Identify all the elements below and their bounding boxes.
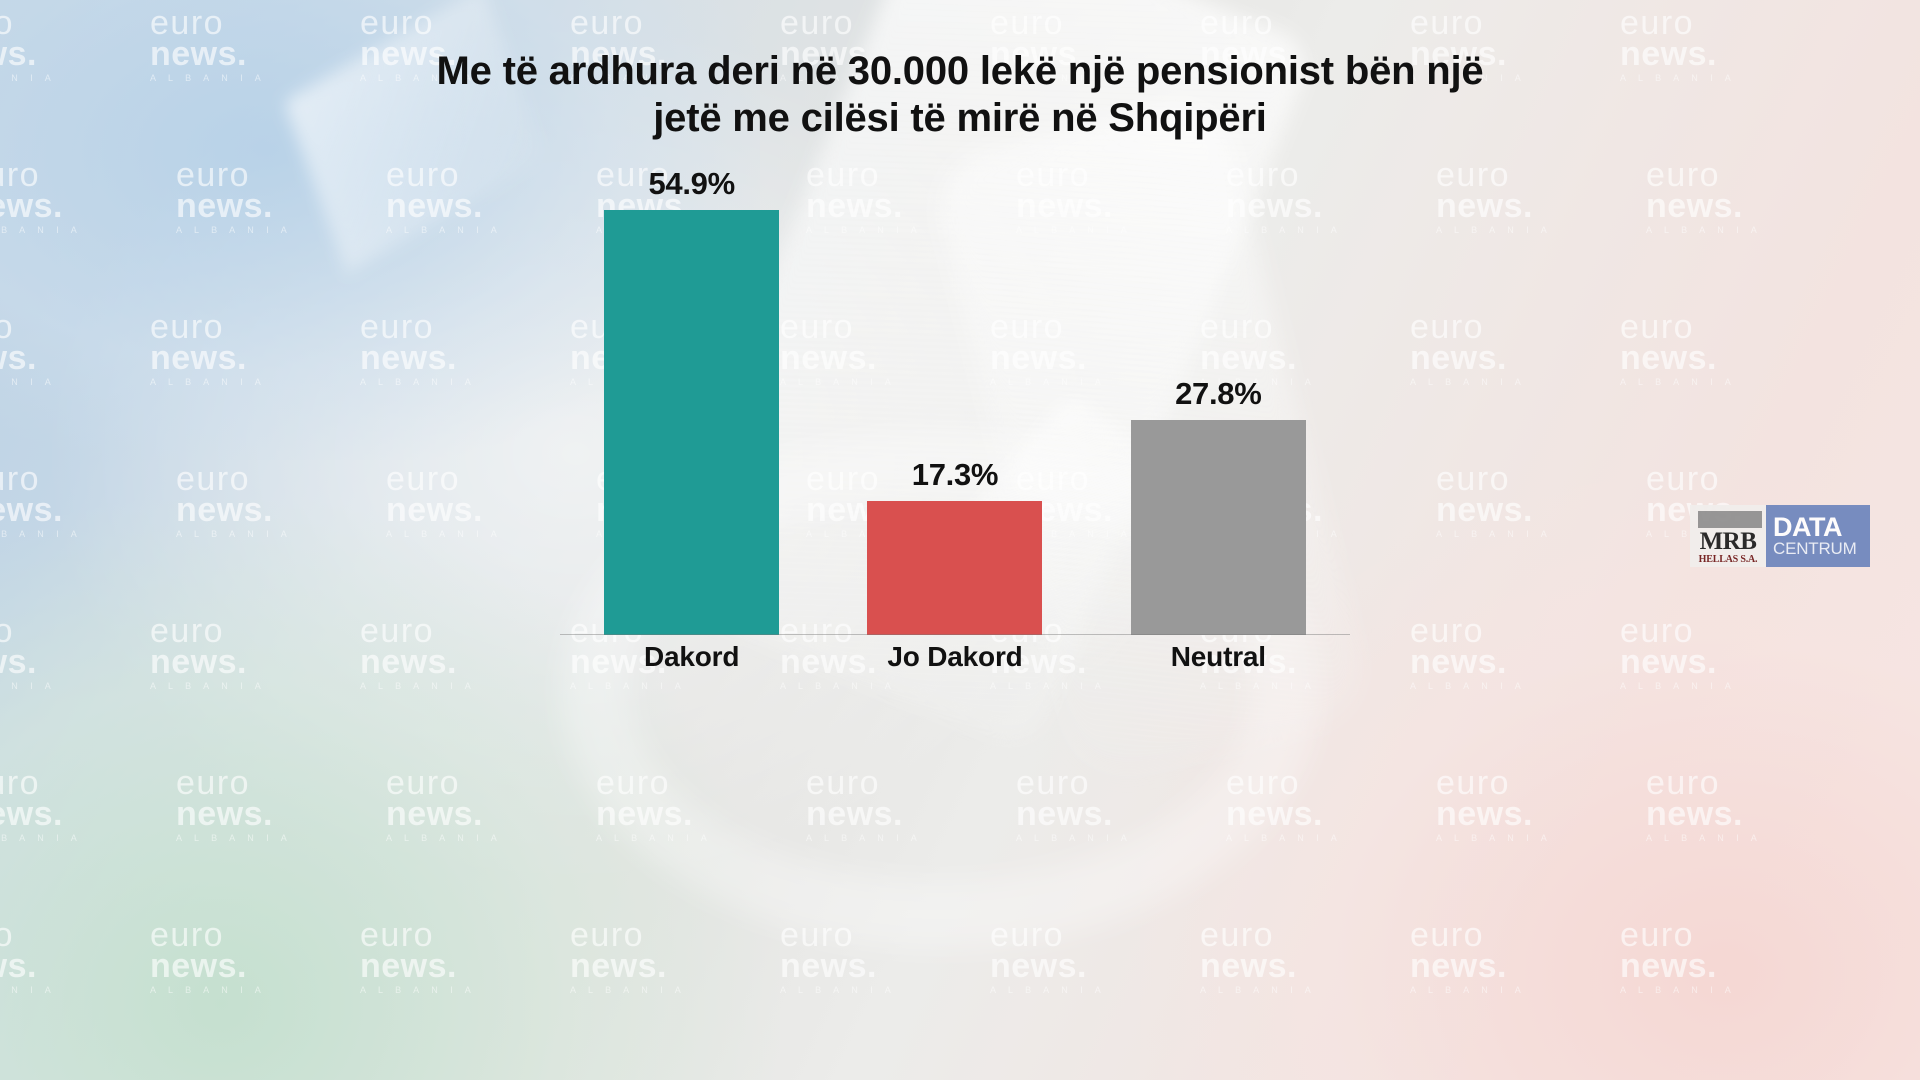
bar-group: 27.8% (1087, 376, 1350, 635)
mrb-logo: MRB HELLAS S.A. (1690, 505, 1766, 567)
bar-jo-dakord[interactable] (867, 501, 1042, 635)
page-title: Me të ardhura deri në 30.000 lekë një pe… (0, 48, 1920, 142)
bar-group: 54.9% (560, 166, 823, 635)
category-label-row: DakordJo DakordNeutral (560, 635, 1350, 675)
category-label-jo-dakord: Jo Dakord (823, 635, 1086, 675)
page-title-line2: jetë me cilësi të mirë në Shqipëri (200, 95, 1720, 142)
mrb-datacentrum-logo: MRB HELLAS S.A. DATA CENTRUM (1690, 505, 1870, 567)
bar-dakord[interactable] (604, 210, 779, 635)
mrb-logo-name: MRB (1700, 529, 1757, 554)
bar-chart: 54.9%17.3%27.8% DakordJo DakordNeutral (560, 170, 1350, 675)
bar-value-label: 27.8% (1175, 376, 1261, 412)
page-title-line1: Me të ardhura deri në 30.000 lekë një pe… (200, 48, 1720, 95)
bar-column: 27.8% (1087, 170, 1350, 635)
bar-value-label: 17.3% (912, 457, 998, 493)
datacentrum-logo-centrum: CENTRUM (1773, 540, 1870, 557)
bar-group: 17.3% (823, 457, 1086, 635)
mrb-logo-subtitle: HELLAS S.A. (1699, 555, 1758, 565)
chart-slide: euronews.A L B A N I Aeuronews.A L B A N… (0, 0, 1920, 1080)
category-label-dakord: Dakord (560, 635, 823, 675)
chart-plot-area: 54.9%17.3%27.8% (560, 170, 1350, 635)
datacentrum-logo-data: DATA (1773, 515, 1870, 541)
mrb-logo-bar (1698, 511, 1762, 528)
bar-neutral[interactable] (1131, 420, 1306, 635)
datacentrum-logo: DATA CENTRUM (1766, 505, 1870, 567)
bar-column: 54.9% (560, 170, 823, 635)
bar-value-label: 54.9% (648, 166, 734, 202)
bar-column: 17.3% (823, 170, 1086, 635)
category-label-neutral: Neutral (1087, 635, 1350, 675)
